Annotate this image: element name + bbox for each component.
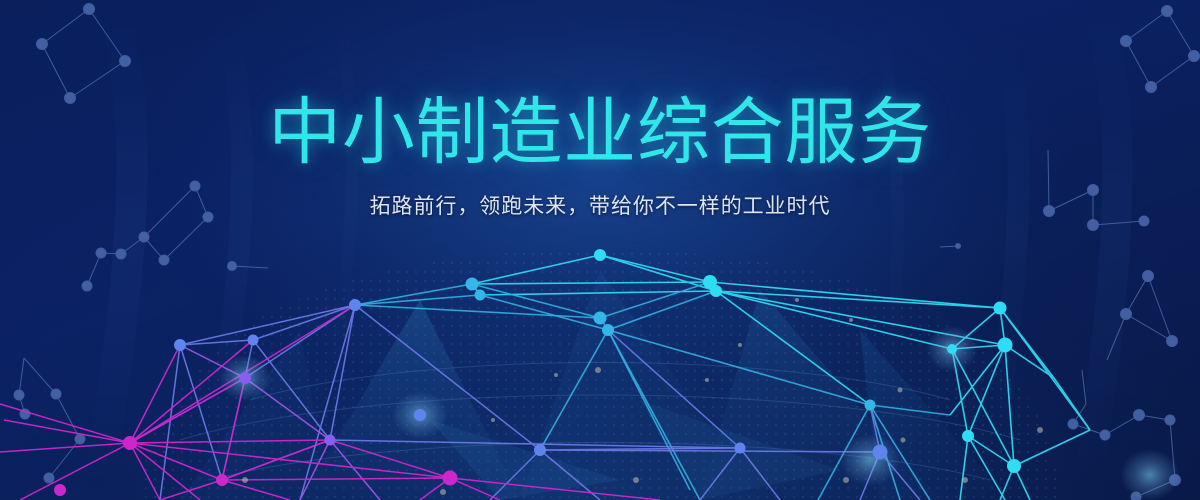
wireframe-dome-graphic bbox=[0, 0, 1200, 500]
hero-banner: 中小制造业综合服务 拓路前行，领跑未来，带给你不一样的工业时代 bbox=[0, 0, 1200, 500]
